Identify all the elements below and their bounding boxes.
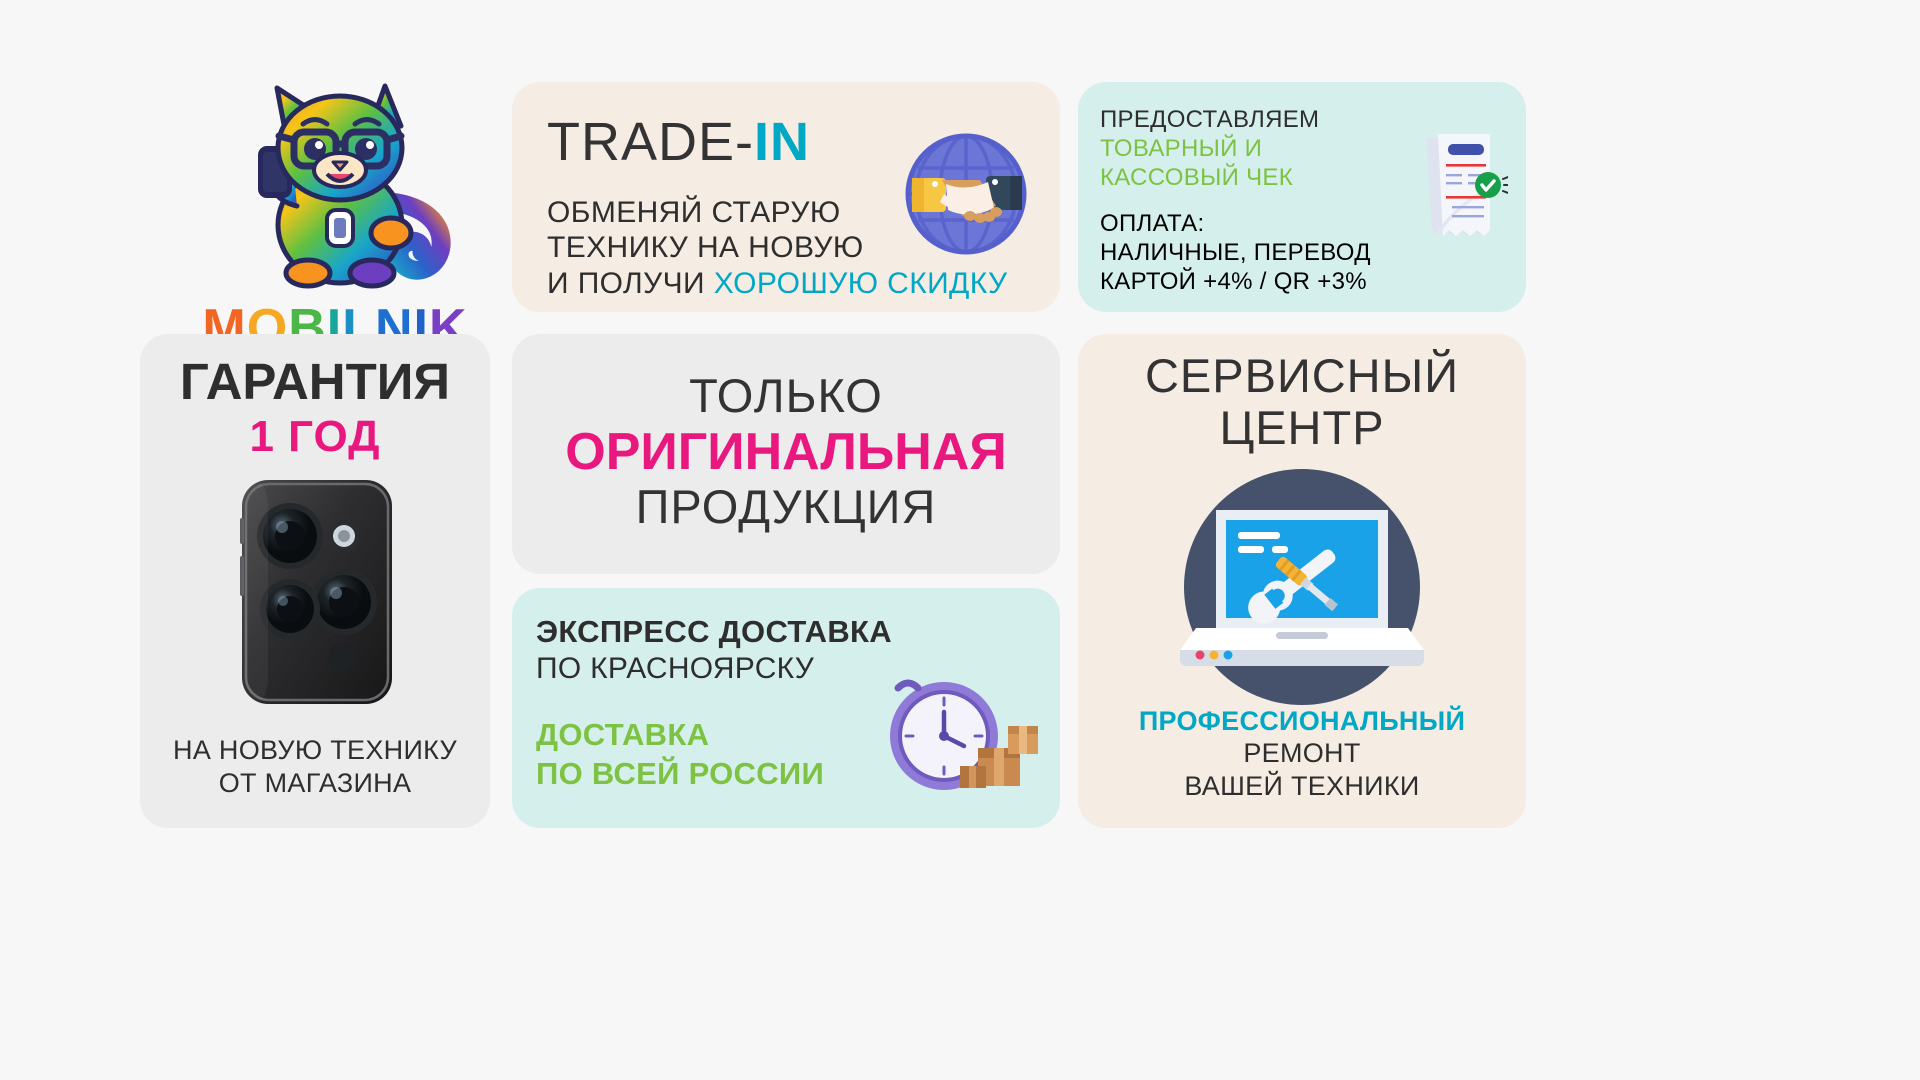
payment-line-1: НАЛИЧНЫЕ, ПЕРЕВОД — [1100, 239, 1371, 268]
delivery-line-1: ЭКСПРЕСС ДОСТАВКА — [536, 614, 892, 650]
service-foot-line-2: ВАШЕЙ ТЕХНИКИ — [1078, 770, 1526, 802]
trade-in-line-3: И ПОЛУЧИ ХОРОШУЮ СКИДКУ — [547, 266, 1007, 301]
original-line-3: ПРОДУКЦИЯ — [512, 481, 1060, 534]
payment-label: ОПЛАТА: — [1100, 210, 1371, 239]
card-express-delivery[interactable]: ЭКСПРЕСС ДОСТАВКА ПО КРАСНОЯРСКУ ДОСТАВК… — [512, 588, 1060, 828]
warranty-foot-line-1: НА НОВУЮ ТЕХНИКУ — [140, 734, 490, 767]
service-foot-line-1: РЕМОНТ — [1078, 737, 1526, 769]
rainbow-cat-icon — [205, 70, 465, 300]
card-service-center[interactable]: СЕРВИСНЫЙ ЦЕНТР — [1078, 334, 1526, 828]
card-original-products[interactable]: ТОЛЬКО ОРИГИНАЛЬНАЯ ПРОДУКЦИЯ — [512, 334, 1060, 574]
receipt-check-icon — [1408, 130, 1508, 248]
promo-banner: MOBILNIK TRADE-IN ОБМЕНЯЙ СТАРУЮ ТЕХНИКУ… — [0, 0, 1920, 1080]
warranty-subtitle: 1 ГОД — [140, 412, 490, 462]
warranty-footnote: НА НОВУЮ ТЕХНИКУ ОТ МАГАЗИНА — [140, 734, 490, 800]
trade-in-title: TRADE-IN — [547, 115, 810, 169]
checks-line-2: ТОВАРНЫЙ И — [1100, 135, 1319, 164]
original-products-text: ТОЛЬКО ОРИГИНАЛЬНАЯ ПРОДУКЦИЯ — [512, 370, 1060, 533]
delivery-russia-block: ДОСТАВКА ПО ВСЕЙ РОССИИ — [536, 716, 824, 794]
payment-text-block: ОПЛАТА: НАЛИЧНЫЕ, ПЕРЕВОД КАРТОЙ +4% / Q… — [1100, 210, 1371, 296]
service-center-footnote: ПРОФЕССИОНАЛЬНЫЙ РЕМОНТ ВАШЕЙ ТЕХНИКИ — [1078, 705, 1526, 802]
trade-in-line-3-plain: И ПОЛУЧИ — [547, 267, 714, 300]
checks-text-block: ПРЕДОСТАВЛЯЕМ ТОВАРНЫЙ И КАССОВЫЙ ЧЕК — [1100, 106, 1319, 192]
service-center-title: СЕРВИСНЫЙ ЦЕНТР — [1078, 350, 1526, 453]
warranty-title: ГАРАНТИЯ — [140, 352, 490, 411]
checks-line-1: ПРЕДОСТАВЛЯЕМ — [1100, 106, 1319, 135]
card-warranty[interactable]: ГАРАНТИЯ 1 ГОД — [140, 334, 490, 828]
card-trade-in[interactable]: TRADE-IN ОБМЕНЯЙ СТАРУЮ ТЕХНИКУ НА НОВУЮ… — [512, 82, 1060, 312]
smartphone-camera-icon — [220, 474, 410, 704]
laptop-repair-icon — [1152, 462, 1452, 712]
service-title-line-1: СЕРВИСНЫЙ — [1078, 350, 1526, 402]
delivery-line-2: ПО КРАСНОЯРСКУ — [536, 652, 814, 686]
warranty-foot-line-2: ОТ МАГАЗИНА — [140, 767, 490, 800]
checks-line-3: КАССОВЫЙ ЧЕК — [1100, 164, 1319, 193]
service-title-line-2: ЦЕНТР — [1078, 402, 1526, 454]
brand-logo-block: MOBILNIK — [170, 70, 500, 370]
delivery-line-3: ДОСТАВКА — [536, 716, 824, 755]
delivery-line-4: ПО ВСЕЙ РОССИИ — [536, 755, 824, 794]
payment-line-2: КАРТОЙ +4% / QR +3% — [1100, 268, 1371, 297]
handshake-globe-icon — [896, 124, 1036, 264]
trade-in-title-accent: IN — [754, 112, 810, 172]
trade-in-title-main: TRADE- — [547, 112, 754, 172]
card-receipts-payment[interactable]: ПРЕДОСТАВЛЯЕМ ТОВАРНЫЙ И КАССОВЫЙ ЧЕК ОП… — [1078, 82, 1526, 312]
clock-parcels-icon — [882, 670, 1042, 810]
trade-in-line-3-accent: ХОРОШУЮ СКИДКУ — [714, 267, 1008, 300]
service-foot-highlight: ПРОФЕССИОНАЛЬНЫЙ — [1078, 705, 1526, 737]
original-line-2: ОРИГИНАЛЬНАЯ — [512, 423, 1060, 481]
original-line-1: ТОЛЬКО — [512, 370, 1060, 423]
